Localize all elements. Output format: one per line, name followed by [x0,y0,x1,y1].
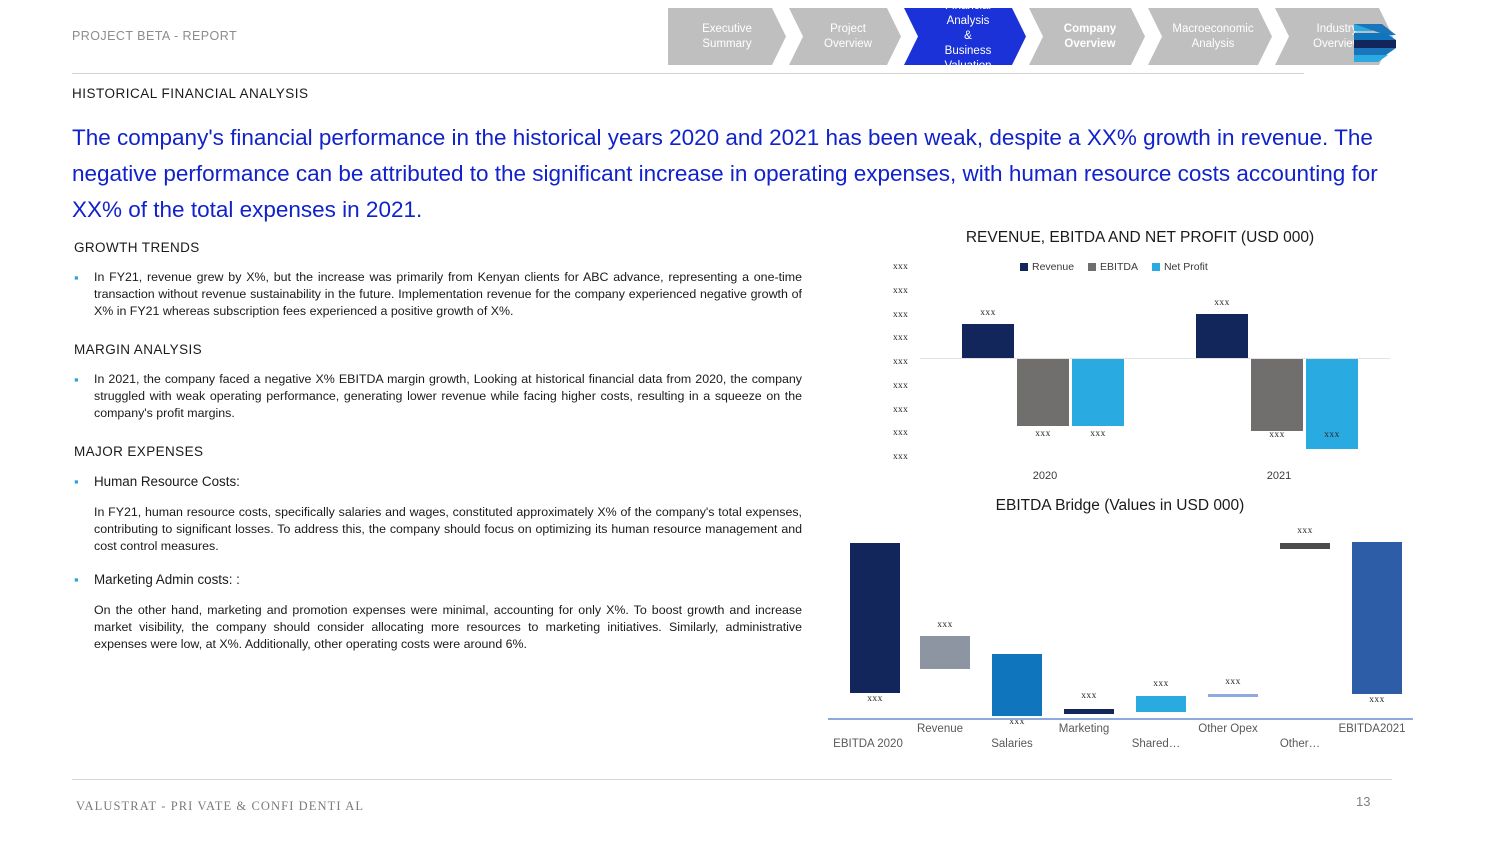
bar-value-label-net-profit-2021: xxx [1306,430,1358,440]
footer-divider [72,779,1392,780]
company-logo-icon [1352,21,1400,65]
x-tick-label-marketing: Marketing [1029,723,1139,735]
x-tick-label-shared: Shared… [1101,738,1211,750]
y-tick-label: xxx [893,262,908,272]
margin-analysis-heading: MARGIN ANALYSIS [74,342,802,357]
nav-item-label-line2: Overview [824,37,872,52]
bar-marketing-bridge[interactable] [1064,709,1114,714]
nav-item-label-line2: & [924,29,1012,44]
bar-value-label-ebitda-2020: xxx [1017,429,1069,439]
bar-value-label-ebitda-2020-bridge: xxx [850,694,900,704]
nav-item-label-line1: Executive [702,22,752,37]
nav-item-label-line3: Business Valuation [924,44,1012,74]
nav-item-label-line1: Project [824,22,872,37]
ebitda-bridge-chart-title: EBITDA Bridge (Values in USD 000) [830,497,1410,515]
slide: PROJECT BETA - REPORT HISTORICAL FINANCI… [0,0,1500,844]
headline-statement: The company's financial performance in t… [72,120,1392,228]
x-tick-label-other-opex: Other Opex [1173,723,1283,735]
x-tick-label-revenue: Revenue [885,723,995,735]
bullet-icon: ▪ [72,571,94,588]
footer-confidential-text: VALUSTRAT - PRI VATE & CONFI DENTI AL [76,799,364,814]
bar-net-profit-2020[interactable] [1072,359,1124,426]
revenue-ebitda-netprofit-chart-title: REVENUE, EBITDA AND NET PROFIT (USD 000) [880,229,1400,247]
x-tick-label-ebitda-2021: EBITDA2021 [1317,723,1427,735]
ebitda-bridge-x-axis [828,718,1413,720]
bar-ebitda-2021[interactable] [1251,359,1303,431]
header-divider [72,73,1304,74]
page-title: HISTORICAL FINANCIAL ANALYSIS [72,86,309,101]
x-tick-label-2020: 2020 [1005,470,1085,482]
bar-revenue-2021[interactable] [1196,314,1248,358]
nav-item-project-overview[interactable]: Project Overview [789,8,901,65]
y-tick-label: xxx [893,405,908,415]
bullet-icon: ▪ [72,269,94,320]
nav-item-label-line1: Macroeconomic [1172,22,1253,37]
bar-value-label-ebitda-2021: xxx [1251,430,1303,440]
y-tick-label: xxx [893,333,908,343]
y-tick-label: xxx [893,381,908,391]
bar-other-opex-bridge[interactable] [1208,694,1258,697]
bar-value-label-revenue-bridge: xxx [920,620,970,630]
bar-value-label-revenue-2021: xxx [1196,298,1248,308]
nav-item-company-overview[interactable]: Company Overview [1029,8,1145,65]
x-tick-label-salaries: Salaries [957,738,1067,750]
bar-value-label-shared-bridge: xxx [1136,679,1186,689]
bullet-icon: ▪ [72,371,94,422]
nav-item-macroeconomic-analysis[interactable]: Macroeconomic Analysis [1148,8,1272,65]
y-tick-label: xxx [893,286,908,296]
growth-trends-bullet-text: In FY21, revenue grew by X%, but the inc… [94,269,802,320]
bar-ebitda-2020-bridge[interactable] [850,543,900,693]
list-item: ▪ In FY21, revenue grew by X%, but the i… [72,269,802,320]
marketing-admin-costs-label: Marketing Admin costs: : [94,571,802,588]
y-tick-label: xxx [893,357,908,367]
nav-item-label-line1: Financial Analysis [924,0,1012,29]
y-tick-label: xxx [893,428,908,438]
bar-value-label-other-opex-bridge: xxx [1208,677,1258,687]
list-item: ▪ Marketing Admin costs: : [72,571,802,588]
bar-value-label-ebitda-2021-bridge: xxx [1352,695,1402,705]
bar-shared-bridge[interactable] [1136,696,1186,712]
bar-revenue-bridge[interactable] [920,636,970,669]
marketing-admin-costs-paragraph: On the other hand, marketing and promoti… [94,602,802,653]
bar-value-label-marketing-bridge: xxx [1064,691,1114,701]
section-nav: Executive Summary Project Overview Finan… [668,8,1396,65]
nav-item-label-line2: Overview [1064,37,1116,52]
margin-analysis-bullet-text: In 2021, the company faced a negative X%… [94,371,802,422]
bar-value-label-other-bridge: xxx [1280,526,1330,536]
bar-ebitda-2021-bridge[interactable] [1352,542,1402,694]
bar-salaries-bridge[interactable] [992,654,1042,716]
list-item: ▪ Human Resource Costs: [72,473,802,490]
nav-item-executive-summary[interactable]: Executive Summary [668,8,786,65]
bar-other-bridge[interactable] [1280,543,1330,549]
x-tick-label-other: Other… [1245,738,1355,750]
revenue-ebitda-netprofit-plot: xxx xxx xxx xxx xxx xxx [920,262,1390,474]
bar-value-label-net-profit-2020: xxx [1072,429,1124,439]
report-kicker: PROJECT BETA - REPORT [72,29,237,43]
nav-item-financial-analysis[interactable]: Financial Analysis & Business Valuation [904,8,1026,65]
major-expenses-heading: MAJOR EXPENSES [74,444,802,459]
nav-item-label-line2: Analysis [1172,37,1253,52]
page-number: 13 [1356,794,1370,809]
bar-revenue-2020[interactable] [962,324,1014,358]
human-resource-costs-label: Human Resource Costs: [94,473,802,490]
bar-ebitda-2020[interactable] [1017,359,1069,426]
y-tick-label: xxx [893,452,908,462]
list-item: ▪ In 2021, the company faced a negative … [72,371,802,422]
ebitda-bridge-plot: xxx xxx xxx xxx xxx xxx xxx xxx [828,528,1413,718]
growth-trends-heading: GROWTH TRENDS [74,240,802,255]
x-tick-label-2021: 2021 [1239,470,1319,482]
analysis-text-column: GROWTH TRENDS ▪ In FY21, revenue grew by… [72,240,802,669]
x-tick-label-ebitda-2020: EBITDA 2020 [813,738,923,750]
nav-item-label-line2: Summary [702,37,752,52]
bullet-icon: ▪ [72,473,94,490]
y-tick-label: xxx [893,310,908,320]
nav-item-label-line1: Company [1064,22,1116,37]
human-resource-costs-paragraph: In FY21, human resource costs, specifica… [94,504,802,555]
bar-value-label-revenue-2020: xxx [962,308,1014,318]
